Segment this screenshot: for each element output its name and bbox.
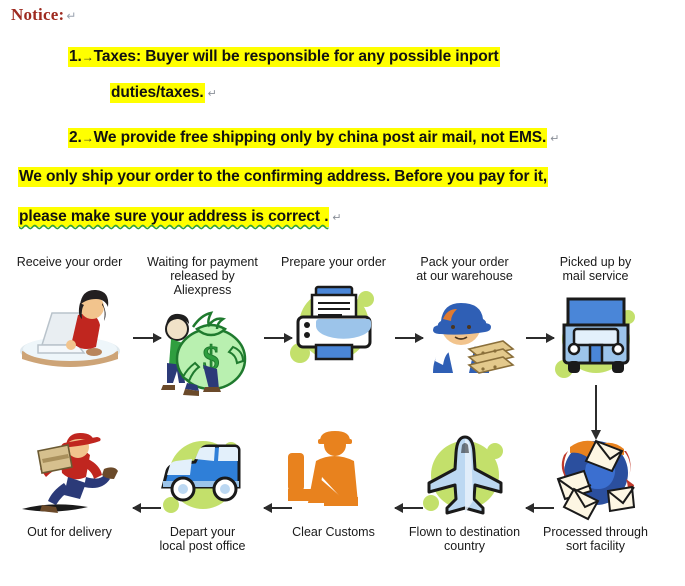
notice-line-3-text: We provide free shipping only by china p… [94, 129, 547, 146]
notice-line-5-text: please make sure your address is correct… [19, 208, 328, 225]
flow-step-label: Receive your order [8, 255, 131, 269]
notice-line-3: 2.→We provide free shipping only by chin… [68, 129, 559, 147]
notice-line-2: duties/taxes.↵ [110, 84, 217, 102]
flow-step-label: Waiting for payment released by Aliexpre… [141, 255, 264, 297]
flow-step-label: Flown to destination country [403, 525, 526, 553]
flow-step-label: Prepare your order [272, 255, 395, 269]
airplane-icon [403, 425, 526, 525]
notice-heading-text: Notice: [11, 5, 64, 24]
notice-line-1-text: Taxes: Buyer will be responsible for any… [94, 48, 499, 65]
tab-mark-icon: → [82, 131, 94, 145]
notice-line-3-number: 2. [69, 129, 82, 146]
customs-officer-icon [272, 425, 395, 525]
flow-step-pack-order: Pack your order at our warehouse [403, 255, 526, 387]
printer-icon [272, 273, 395, 373]
warehouse-worker-icon [403, 287, 526, 387]
flow-step-flown-destination: Flown to destination country [403, 425, 526, 553]
running-courier-icon [8, 425, 131, 525]
notice-line-1-number: 1. [69, 48, 82, 65]
paragraph-mark-icon: ↵ [66, 9, 76, 23]
flow-step-label: Pack your order at our warehouse [403, 255, 526, 283]
money-bag-icon: $ [141, 301, 264, 401]
flow-step-waiting-payment: Waiting for payment released by Aliexpre… [141, 255, 264, 401]
delivery-van-icon [141, 425, 264, 525]
flow-step-sort-facility: Processed through sort facility [534, 425, 657, 553]
flow-step-picked-up: Picked up by mail service [534, 255, 657, 387]
flow-step-label: Processed through sort facility [534, 525, 657, 553]
paragraph-mark-icon: ↵ [208, 88, 217, 100]
notice-line-1: 1.→Taxes: Buyer will be responsible for … [68, 48, 500, 66]
notice-line-5: please make sure your address is correct… [18, 208, 342, 226]
shipping-process-flowchart: Receive your order Waiting for payment r… [0, 255, 685, 586]
flow-step-label: Clear Customs [272, 525, 395, 539]
mail-sorting-icon [534, 425, 657, 525]
notice-line-2-text: duties/taxes. [111, 84, 204, 101]
paragraph-mark-icon: ↵ [550, 133, 559, 145]
flow-step-clear-customs: Clear Customs [272, 425, 395, 539]
mail-truck-icon [534, 287, 657, 387]
flow-step-receive-order: Receive your order [8, 255, 131, 373]
notice-line-4-text: We only ship your order to the confirmin… [19, 168, 547, 185]
flow-step-label: Out for delivery [8, 525, 131, 539]
flow-step-label: Depart your local post office [141, 525, 264, 553]
notice-line-4: We only ship your order to the confirmin… [18, 168, 548, 186]
flow-step-out-for-delivery: Out for delivery [8, 425, 131, 539]
flow-step-label: Picked up by mail service [534, 255, 657, 283]
flow-step-prepare-order: Prepare your order [272, 255, 395, 373]
paragraph-mark-icon: ↵ [332, 212, 341, 224]
flow-step-depart-post-office: Depart your local post office [141, 425, 264, 553]
person-at-laptop-icon [8, 273, 131, 373]
tab-mark-icon: → [82, 50, 94, 64]
notice-heading: Notice:↵ [11, 5, 77, 25]
